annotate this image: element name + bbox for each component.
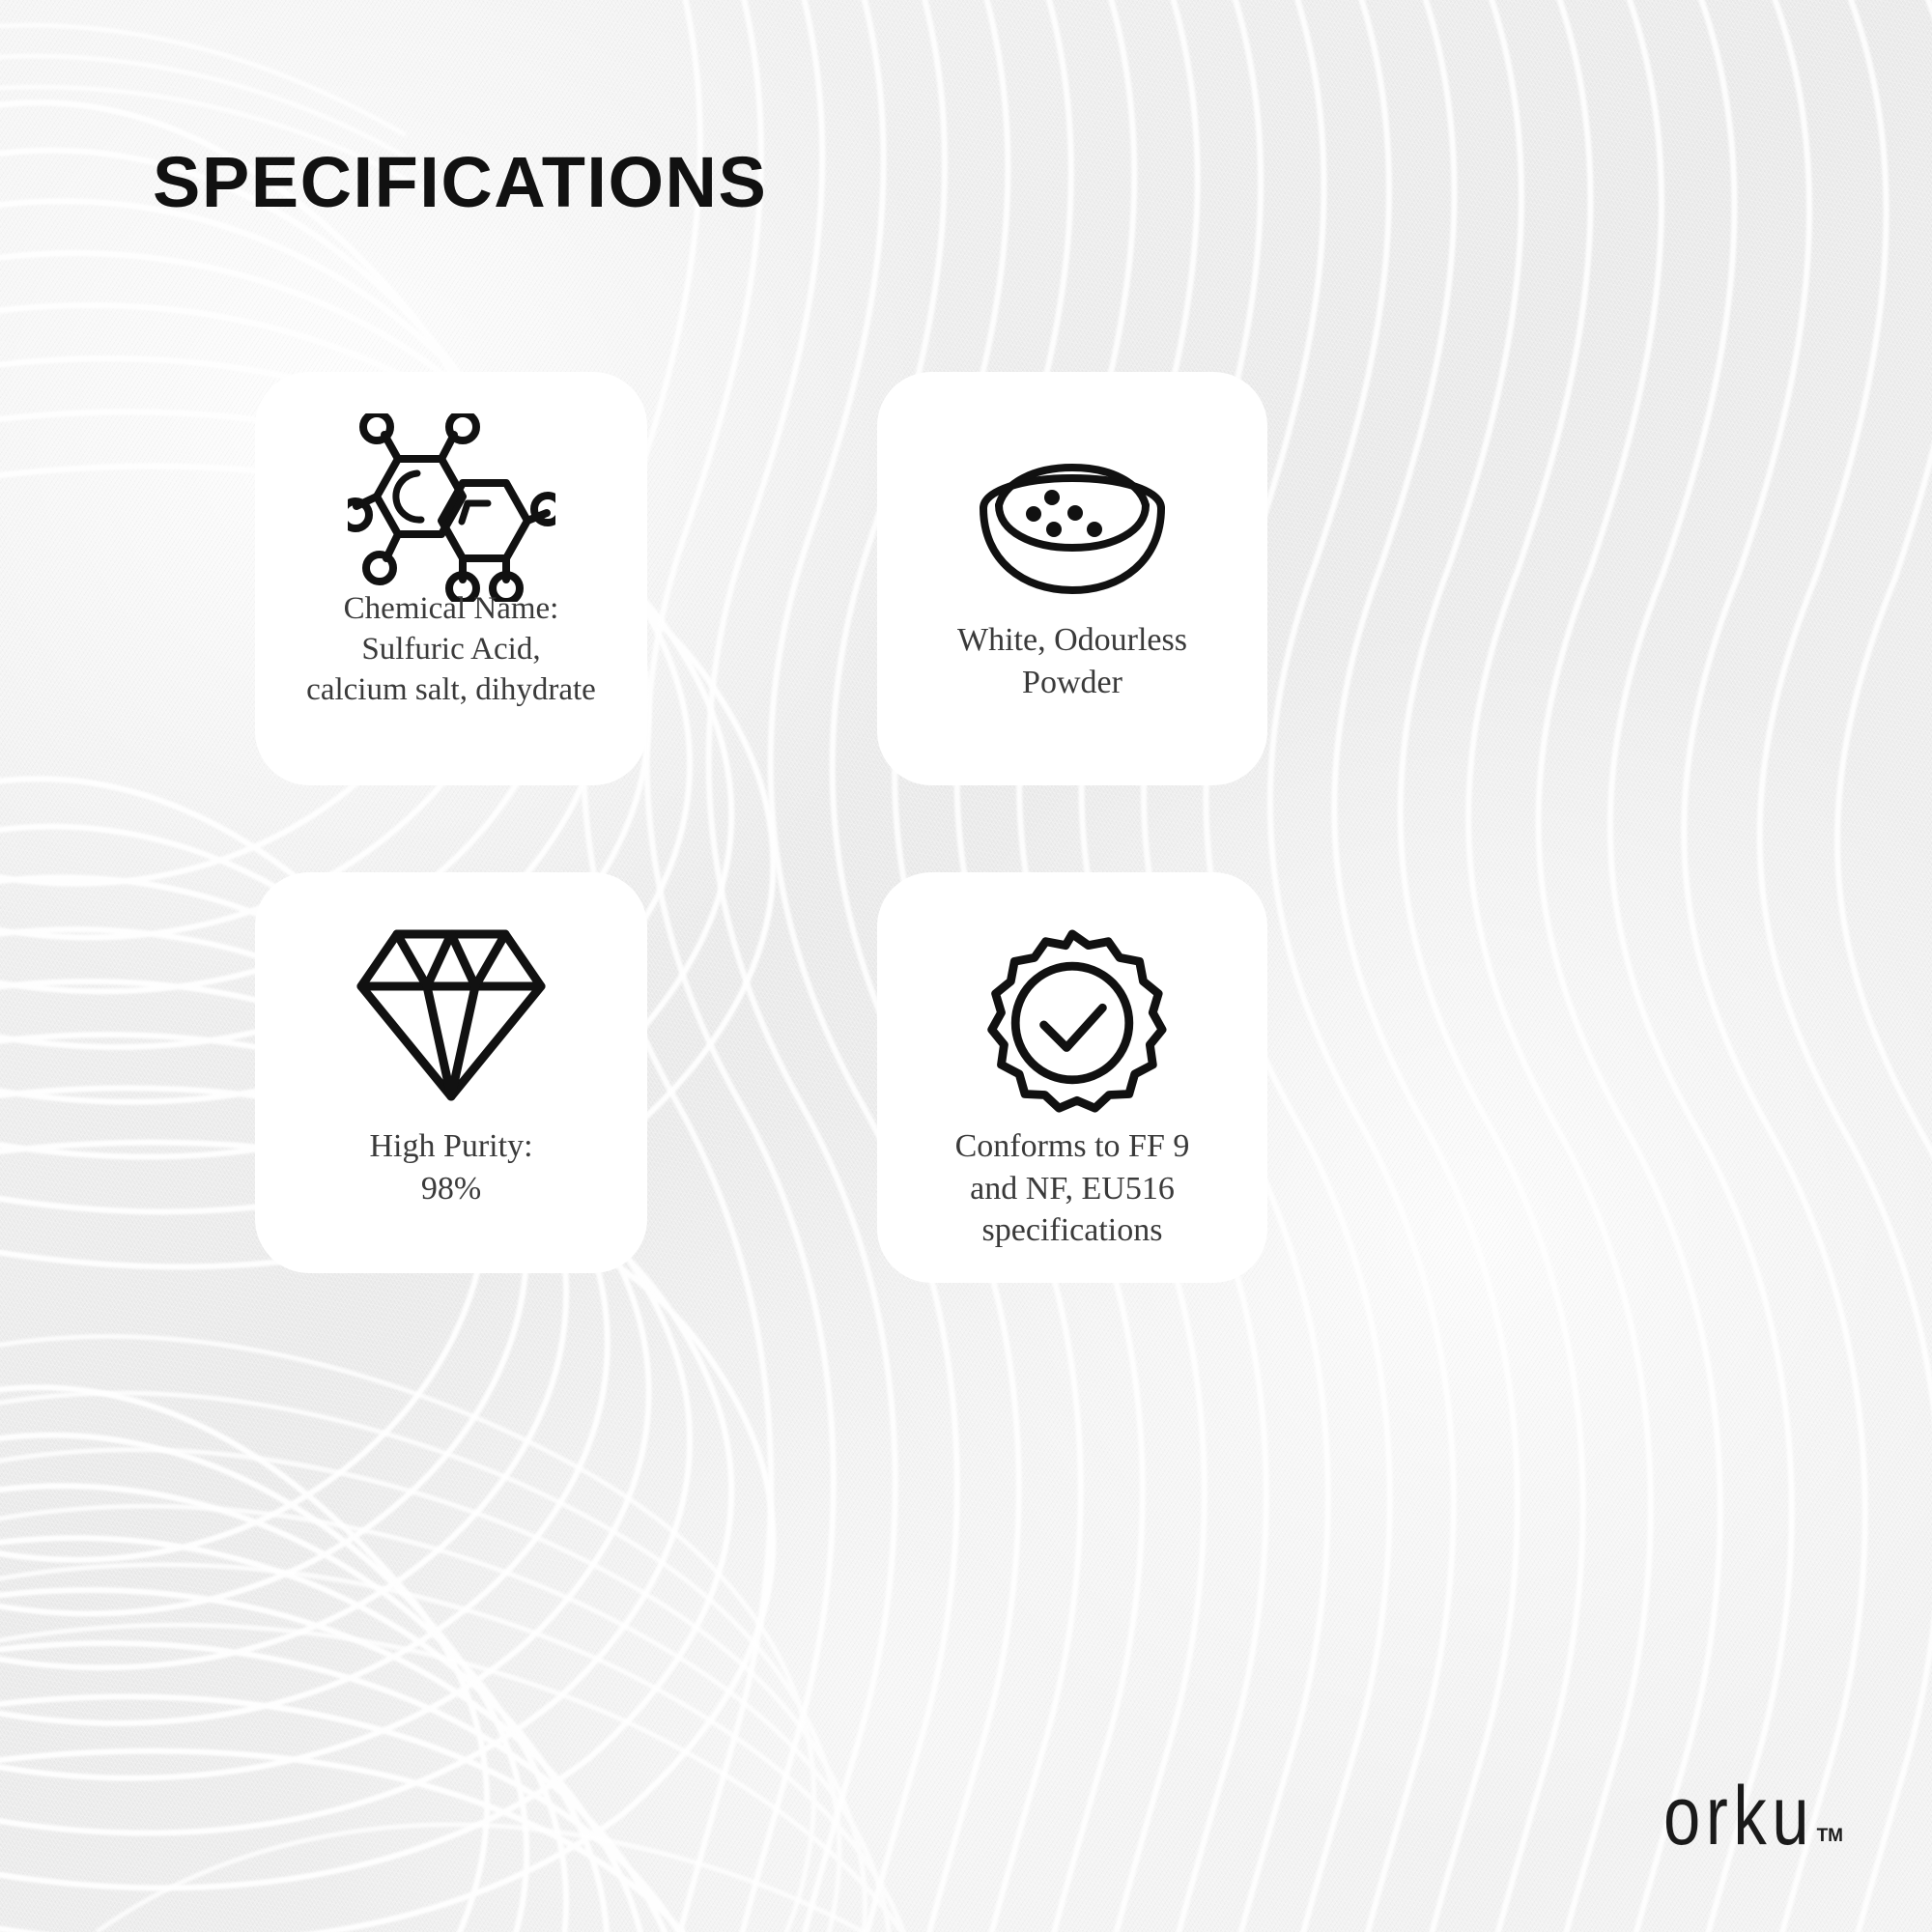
spec-line: Conforms to FF 9: [887, 1125, 1258, 1168]
spec-line: Sulfuric Acid,: [265, 629, 638, 669]
logo-wordmark: orku: [1663, 1781, 1814, 1853]
specifications-grid: Chemical Name: Sulfuric Acid, calcium sa…: [0, 0, 1932, 1932]
spec-line: calcium salt, dihydrate: [265, 669, 638, 710]
spec-card-text: White, Odourless Powder: [877, 619, 1267, 703]
spec-line: specifications: [887, 1209, 1258, 1252]
spec-line: White, Odourless: [887, 619, 1258, 662]
spec-card-conformance: Conforms to FF 9 and NF, EU516 specifica…: [877, 872, 1267, 1283]
certified-badge-icon: [877, 872, 1267, 1123]
spec-card-text: High Purity: 98%: [255, 1125, 647, 1209]
diamond-icon: [255, 872, 647, 1123]
spec-line: 98%: [265, 1168, 638, 1210]
spec-card-text: Conforms to FF 9 and NF, EU516 specifica…: [877, 1125, 1267, 1252]
spec-line: Powder: [887, 662, 1258, 704]
spec-card-chemical-name: Chemical Name: Sulfuric Acid, calcium sa…: [255, 372, 647, 785]
page-root: SPECIFICATIONS: [0, 0, 1932, 1932]
spec-line: and NF, EU516: [887, 1168, 1258, 1210]
spec-line: High Purity:: [265, 1125, 638, 1168]
spec-card-text: Chemical Name: Sulfuric Acid, calcium sa…: [255, 588, 647, 711]
molecule-icon: [255, 372, 647, 594]
trademark-symbol: TM: [1817, 1826, 1843, 1847]
spec-card-appearance: White, Odourless Powder: [877, 372, 1267, 785]
powder-bowl-icon: [877, 372, 1267, 613]
orku-logo: orku TM: [1626, 1781, 1843, 1853]
spec-card-purity: High Purity: 98%: [255, 872, 647, 1273]
spec-line: Chemical Name:: [265, 588, 638, 629]
